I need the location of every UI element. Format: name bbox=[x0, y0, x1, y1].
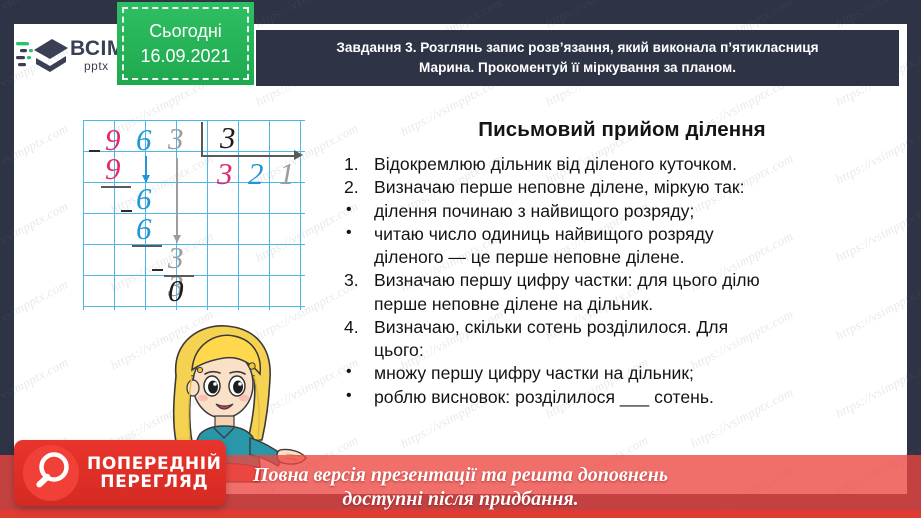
instruction-marker: • bbox=[338, 362, 374, 384]
long-division-worksheet: 9 6 3 3 3 2 1 9 6 6 3 3 0 bbox=[83, 120, 305, 310]
minus-sign-step-2 bbox=[121, 210, 132, 212]
slide-root: 9 6 3 3 3 2 1 9 6 6 3 3 0 bbox=[0, 0, 921, 518]
task-header-line2: Марина. Прокоментуй її міркування за пла… bbox=[419, 60, 736, 75]
today-label: Сьогодні bbox=[149, 21, 222, 42]
divisor-digit: 3 bbox=[220, 122, 236, 153]
remainder-digit: 0 bbox=[168, 275, 184, 306]
instruction-marker: • bbox=[338, 200, 374, 222]
instruction-item: •читаю число одиниць найвищого розряду bbox=[338, 223, 906, 245]
instruction-text: діленого — це перше неповне ділене. bbox=[374, 246, 906, 268]
brand-logo[interactable]: ВСІМ pptx bbox=[16, 30, 128, 80]
quotient-digit-2: 2 bbox=[248, 158, 264, 189]
today-date-value: 16.09.2021 bbox=[140, 46, 230, 67]
quotient-digit-3: 1 bbox=[279, 158, 295, 189]
bring-down-arrow-1-icon bbox=[145, 156, 147, 182]
dividend-digit-tens: 6 bbox=[136, 124, 152, 155]
instruction-item: 3.Визначаю першу цифру частки: для цього… bbox=[338, 269, 906, 291]
instruction-marker: 1. bbox=[338, 153, 374, 175]
instruction-item: •роблю висновок: розділилося ___ сотень. bbox=[338, 386, 906, 408]
preview-badge-line2: ПЕРЕГЛЯД bbox=[87, 473, 222, 491]
instruction-marker: 2. bbox=[338, 176, 374, 198]
instruction-marker: 4. bbox=[338, 316, 374, 338]
instruction-item: 2.Визначаю перше неповне ділене, міркую … bbox=[338, 176, 906, 198]
lesson-content-panel: Письмовий прийом ділення 1.Відокремлюю д… bbox=[338, 118, 906, 409]
instruction-item: цього: bbox=[338, 339, 906, 361]
instruction-text: перше неповне ділене на дільник. bbox=[374, 293, 906, 315]
subtrahend-2: 6 bbox=[136, 213, 152, 244]
instruction-text: множу першу цифру частки на дільник; bbox=[374, 362, 906, 384]
page-title: Письмовий прийом ділення bbox=[338, 118, 906, 142]
bring-down-arrow-2-icon bbox=[176, 158, 178, 242]
graduation-cap-icon bbox=[16, 34, 68, 76]
task-header-band: Завдання 3. Розглянь запис розв’язання, … bbox=[256, 30, 899, 86]
task-header-line1: Завдання 3. Розглянь запис розв’язання, … bbox=[336, 40, 818, 55]
bottom-accent-strip bbox=[0, 510, 921, 518]
division-corner-vertical-rule bbox=[201, 122, 203, 155]
minus-sign-step-3 bbox=[152, 269, 163, 271]
instruction-text: Визначаю перше неповне ділене, міркую та… bbox=[374, 176, 906, 198]
instruction-text: Визначаю, скільки сотень розділилося. Дл… bbox=[374, 316, 906, 338]
partial-dividend-2: 6 bbox=[136, 183, 152, 214]
quotient-digit-1: 3 bbox=[217, 158, 233, 189]
dividend-digit-units: 3 bbox=[168, 123, 184, 154]
instruction-marker: 3. bbox=[338, 269, 374, 291]
instruction-text: роблю висновок: розділилося ___ сотень. bbox=[374, 386, 906, 408]
instruction-item: 4.Визначаю, скільки сотень розділилося. … bbox=[338, 316, 906, 338]
purchase-notice-line1: Повна версія презентації та решта доповн… bbox=[253, 463, 668, 487]
instruction-marker: • bbox=[338, 386, 374, 408]
instruction-item: •множу першу цифру частки на дільник; bbox=[338, 362, 906, 384]
instruction-text: ділення починаю з найвищого розряду; bbox=[374, 200, 906, 222]
purchase-notice-line2: доступні після придбання. bbox=[342, 487, 578, 511]
instruction-text: читаю число одиниць найвищого розряду bbox=[374, 223, 906, 245]
preview-badge-label: ПОПЕРЕДНІЙ ПЕРЕГЛЯД bbox=[87, 455, 222, 492]
preview-badge-line1: ПОПЕРЕДНІЙ bbox=[87, 455, 222, 473]
instruction-marker: • bbox=[338, 223, 374, 245]
minus-sign-step-1 bbox=[89, 150, 100, 152]
step-2-rule bbox=[132, 245, 162, 247]
magnifier-icon bbox=[23, 445, 79, 501]
quotient-arrow-icon bbox=[294, 150, 303, 160]
instruction-list: 1.Відокремлюю дільник від діленого куточ… bbox=[338, 153, 906, 408]
step-1-rule bbox=[101, 186, 131, 188]
instruction-text: Визначаю першу цифру частки: для цього д… bbox=[374, 269, 906, 291]
instruction-text: цього: bbox=[374, 339, 906, 361]
instruction-text: Відокремлюю дільник від діленого куточко… bbox=[374, 153, 906, 175]
instruction-item: 1.Відокремлюю дільник від діленого куточ… bbox=[338, 153, 906, 175]
instruction-item: діленого — це перше неповне ділене. bbox=[338, 246, 906, 268]
preview-badge-button[interactable]: ПОПЕРЕДНІЙ ПЕРЕГЛЯД bbox=[14, 440, 226, 506]
instruction-item: перше неповне ділене на дільник. bbox=[338, 293, 906, 315]
task-header-text: Завдання 3. Розглянь запис розв’язання, … bbox=[336, 38, 818, 77]
instruction-item: •ділення починаю з найвищого розряду; bbox=[338, 200, 906, 222]
today-date-badge: Сьогодні 16.09.2021 bbox=[117, 2, 254, 85]
subtrahend-1: 9 bbox=[105, 153, 121, 184]
